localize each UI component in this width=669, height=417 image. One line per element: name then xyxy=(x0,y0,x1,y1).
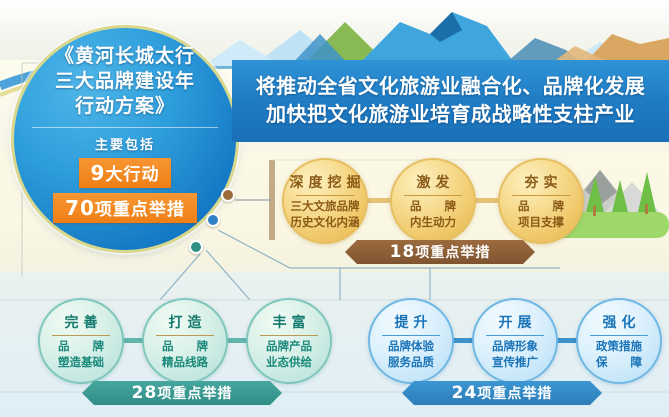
hero-badge-actions-text: 大行动 xyxy=(105,165,159,185)
node-gold-2-head: 激发 xyxy=(412,172,455,192)
node-blue-3-line-1: 政策措施 xyxy=(596,339,642,354)
top-banner-line-1: 将推动全省文化旅游业融合化、品牌化发展 xyxy=(256,73,646,101)
dot-gold-branch-icon xyxy=(221,188,235,202)
node-teal-3[interactable]: 丰富 品牌产品 业态供给 xyxy=(246,298,332,384)
dot-teal-branch-icon xyxy=(189,240,203,254)
node-gold-1-line-1: 三大文旅品牌 xyxy=(291,199,360,214)
ribbon-teal-text: 项重点举措 xyxy=(157,383,232,403)
hero-title-line-2: 三大品牌建设年 xyxy=(55,69,195,94)
node-teal-1-head: 完善 xyxy=(60,312,103,332)
node-gold-3-head: 夯实 xyxy=(520,172,563,192)
hero-badge-actions: 9大行动 xyxy=(79,158,172,188)
ribbon-blue-text: 项重点举措 xyxy=(477,383,552,403)
node-teal-2-line-2: 精品线路 xyxy=(162,355,208,370)
node-gold-3-line-2: 项目支撑 xyxy=(518,215,564,230)
node-blue-1-head: 提升 xyxy=(390,312,433,332)
hero-circle: 《黄河长城太行 三大品牌建设年 行动方案》 主要包括 9大行动 70项重点举措 xyxy=(14,28,236,250)
node-blue-1-line-1: 品牌体验 xyxy=(388,339,434,354)
node-teal-3-divider xyxy=(260,335,318,336)
node-gold-3-line-1: 品 牌 xyxy=(518,199,564,214)
node-blue-3-divider xyxy=(590,335,648,336)
top-banner-line-2: 加快把文化旅游业培育成战略性支柱产业 xyxy=(266,101,635,129)
node-blue-2-head: 开展 xyxy=(494,312,537,332)
gold-connector-1 xyxy=(366,198,390,203)
node-gold-2-line-1: 品 牌 xyxy=(410,199,456,214)
hero-badge-measures: 70项重点举措 xyxy=(53,193,197,223)
hero-badge-actions-number: 9 xyxy=(91,161,106,185)
node-gold-1-head: 深度挖掘 xyxy=(285,172,366,192)
node-gold-1[interactable]: 深度挖掘 三大文旅品牌 历史文化内涵 xyxy=(282,158,368,244)
node-blue-2[interactable]: 开展 品牌形象 宣传推广 xyxy=(472,298,558,384)
node-teal-3-line-1: 品牌产品 xyxy=(266,339,312,354)
node-gold-1-divider xyxy=(296,195,354,196)
node-gold-2[interactable]: 激发 品 牌 内生动力 xyxy=(390,158,476,244)
node-gold-1-line-2: 历史文化内涵 xyxy=(291,215,360,230)
blue-connector-1 xyxy=(452,338,474,343)
ribbon-gold-number: 18 xyxy=(390,242,416,262)
blue-connector-2 xyxy=(556,338,578,343)
ribbon-teal-28: 28项重点举措 xyxy=(82,381,282,405)
teal-connector-2 xyxy=(226,338,248,343)
node-blue-1-line-2: 服务品质 xyxy=(388,355,434,370)
node-gold-2-divider xyxy=(404,195,462,196)
node-blue-2-line-1: 品牌形象 xyxy=(492,339,538,354)
node-teal-2-divider xyxy=(156,335,214,336)
node-blue-1[interactable]: 提升 品牌体验 服务品质 xyxy=(368,298,454,384)
node-teal-1-divider xyxy=(52,335,110,336)
node-teal-1-line-1: 品 牌 xyxy=(58,339,104,354)
node-teal-1-line-2: 塑造基础 xyxy=(58,355,104,370)
node-blue-3-line-2: 保 障 xyxy=(596,355,642,370)
hero-divider xyxy=(32,127,218,128)
ribbon-blue-number: 24 xyxy=(452,383,478,403)
node-blue-2-line-2: 宣传推广 xyxy=(492,355,538,370)
node-blue-1-divider xyxy=(382,335,440,336)
node-blue-2-divider xyxy=(486,335,544,336)
node-gold-2-line-2: 内生动力 xyxy=(410,215,456,230)
infographic-canvas: 《黄河长城太行 三大品牌建设年 行动方案》 主要包括 9大行动 70项重点举措 … xyxy=(0,0,669,417)
node-blue-3-head: 强化 xyxy=(598,312,641,332)
ribbon-gold-18: 18项重点举措 xyxy=(345,240,535,264)
node-gold-3-divider xyxy=(512,195,570,196)
hero-title-line-3: 行动方案》 xyxy=(75,94,175,119)
dot-blue-branch-icon xyxy=(206,213,220,227)
node-teal-1[interactable]: 完善 品 牌 塑造基础 xyxy=(38,298,124,384)
hero-title-line-1: 《黄河长城太行 xyxy=(55,44,195,69)
teal-connector-1 xyxy=(122,338,144,343)
node-teal-3-line-2: 业态供给 xyxy=(266,355,312,370)
node-teal-2[interactable]: 打造 品 牌 精品线路 xyxy=(142,298,228,384)
ribbon-gold-text: 项重点举措 xyxy=(415,242,490,262)
node-teal-3-head: 丰富 xyxy=(268,312,311,332)
ribbon-teal-number: 28 xyxy=(132,383,158,403)
node-gold-3[interactable]: 夯实 品 牌 项目支撑 xyxy=(498,158,584,244)
gold-connector-2 xyxy=(474,198,498,203)
node-blue-3[interactable]: 强化 政策措施 保 障 xyxy=(576,298,662,384)
hero-subtitle: 主要包括 xyxy=(95,134,155,153)
node-teal-2-line-1: 品 牌 xyxy=(162,339,208,354)
node-teal-2-head: 打造 xyxy=(164,312,207,332)
hero-badge-measures-number: 70 xyxy=(65,196,95,220)
top-banner: 将推动全省文化旅游业融合化、品牌化发展 加快把文化旅游业培育成战略性支柱产业 xyxy=(232,60,669,142)
hero-badge-measures-text: 项重点举措 xyxy=(95,200,185,220)
ribbon-blue-24: 24项重点举措 xyxy=(402,381,602,405)
